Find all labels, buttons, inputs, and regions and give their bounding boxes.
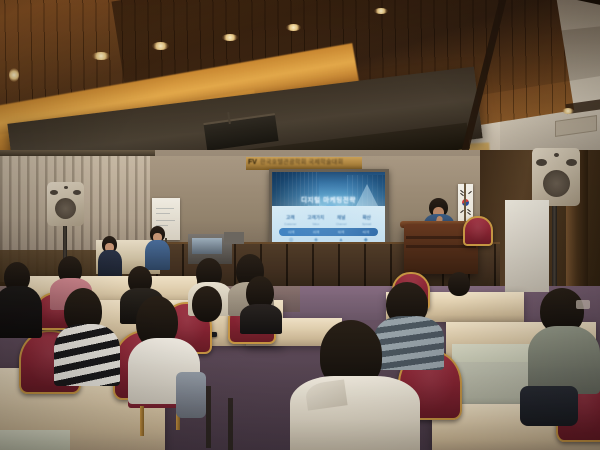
- signage-logo: FV: [248, 159, 257, 166]
- standing-man-torso: [145, 240, 170, 270]
- slide-column-sub: Spread: [354, 222, 379, 226]
- slide-column-sub: Customer: [278, 222, 303, 226]
- table-runner: [0, 430, 70, 450]
- downlight-icon-4: [374, 8, 388, 14]
- slide-column-3: 확산Spread: [354, 215, 379, 226]
- attendee-leg: [520, 386, 578, 426]
- timeline-step-3: 4단계: [363, 230, 369, 234]
- chair-leg: [206, 386, 211, 448]
- slide-column-heading: 채널: [329, 215, 354, 221]
- pa-speaker-right-stand: [552, 206, 557, 286]
- glasses-icon: [576, 300, 590, 309]
- downlight-icon-1: [152, 42, 169, 50]
- downlight-icon-6: [562, 108, 574, 114]
- attendee-body: [240, 304, 282, 334]
- attendee-body: [0, 286, 42, 338]
- ceiling: [0, 0, 600, 175]
- downlight-icon-2: [222, 34, 238, 41]
- slide-column-1: 고객가치Value: [303, 215, 328, 226]
- attendee-body-striped: [54, 324, 120, 386]
- chair-leg: [228, 398, 233, 450]
- slide-column-group: 고객Customer고객가치Value채널Channel확산Spread: [278, 215, 380, 226]
- attendee-body: [528, 326, 600, 394]
- downlight-icon-3: [286, 24, 301, 31]
- slide-column-2: 채널Channel: [329, 215, 354, 226]
- slide-timeline-bar: 1단계2단계3단계4단계: [279, 228, 378, 236]
- slide-column-sub: Value: [303, 222, 328, 226]
- downlight-icon-0: [92, 52, 110, 60]
- chair-leg: [140, 406, 144, 436]
- attendee-head: [448, 272, 470, 296]
- timeline-step-0: 1단계: [288, 230, 294, 234]
- slide-title: 디지털 마케팅전략: [272, 194, 385, 204]
- timeline-step-2: 3단계: [338, 230, 344, 234]
- attendee-body-striped: [374, 316, 444, 370]
- slide-column-sub: Channel: [329, 222, 354, 226]
- whiteboard-panel-right: [505, 200, 549, 292]
- seminar-room-photo: FV 한국호텔관광학회 국제학술대회 디지털 마케팅전략 Digital Mar…: [0, 0, 600, 450]
- laptop-screen: [192, 238, 222, 254]
- downlight-icon-5: [9, 68, 19, 82]
- attendee-leg: [176, 372, 206, 418]
- signage-text: 한국호텔관광학회 국제학술대회: [260, 159, 360, 168]
- slide-column-heading: 확산: [354, 215, 379, 221]
- slide-column-0: 고객Customer: [278, 215, 303, 226]
- timeline-step-1: 2단계: [313, 230, 319, 234]
- pa-speaker-right: [532, 148, 580, 206]
- stage-chair: [463, 216, 493, 246]
- slide-column-heading: 고객: [278, 215, 303, 221]
- attendee-head: [192, 286, 222, 322]
- slide-column-heading: 고객가치: [303, 215, 328, 221]
- av-equipment-box: [224, 232, 244, 244]
- pa-speaker-left: [47, 182, 84, 226]
- curtain-rod: [0, 150, 155, 156]
